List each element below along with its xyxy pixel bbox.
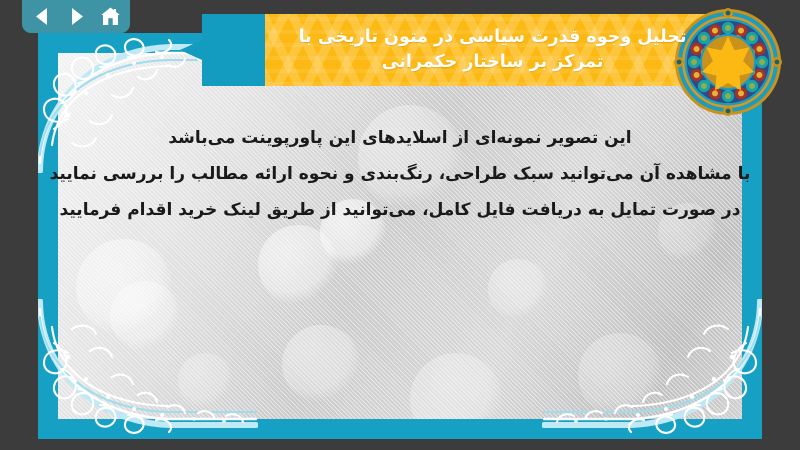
slide-viewer: تحلیل وجوه قدرت سیاسی در متون تاریخی با … [0,0,800,450]
slide-title-band: تحلیل وجوه قدرت سیاسی در متون تاریخی با … [265,14,720,86]
bokeh-circle [178,353,232,407]
slide-body-text: این تصویر نمونه‌ای از اسلایدهای این پاور… [30,120,770,228]
body-line: در صورت تمایل به دریافت فایل کامل، می‌تو… [30,192,770,228]
bokeh-circle [578,333,662,417]
body-line: با مشاهده آن می‌توانید سبک طراحی، رنگ‌بن… [30,156,770,192]
page-title: تحلیل وجوه قدرت سیاسی در متون تاریخی با … [283,25,703,76]
previous-slide-icon[interactable] [32,6,53,27]
body-line: این تصویر نمونه‌ای از اسلایدهای این پاور… [30,120,770,156]
next-slide-icon[interactable] [66,6,87,27]
slide-content-panel [58,53,742,419]
home-icon[interactable] [100,6,121,27]
slide-navigation-bar [22,0,130,33]
bokeh-circle [410,353,502,419]
bokeh-circle [76,239,172,335]
bokeh-circle [110,281,180,351]
bokeh-circle [258,225,338,305]
bokeh-circle [488,259,548,319]
slide-canvas [38,33,762,439]
bokeh-circle [282,325,360,403]
title-band-teal-strip [245,14,267,86]
